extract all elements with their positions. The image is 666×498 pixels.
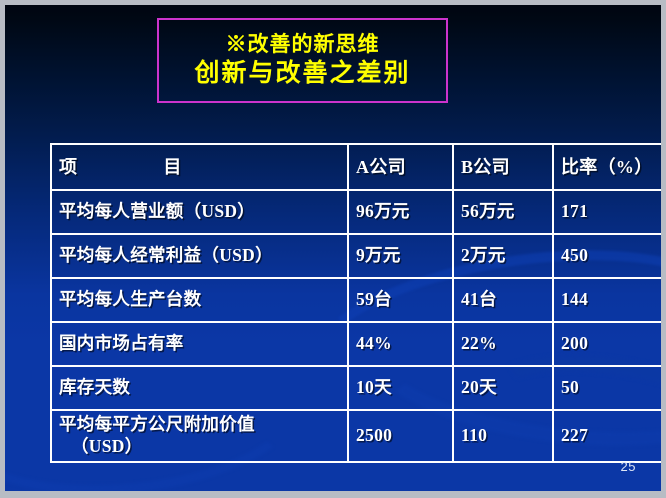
table-body: 平均每人营业额（USD） 96万元 56万元 171 平均每人经常利益（USD）… (51, 190, 666, 462)
title-box: ※改善的新思维 创新与改善之差别 (157, 18, 448, 103)
page-number: 25 (621, 459, 636, 474)
cell-ratio: 200 (553, 322, 666, 366)
column-header-item: 项目 (51, 144, 348, 190)
cell-item: 库存天数 (51, 366, 348, 410)
page-title: 创新与改善之差别 (194, 60, 410, 88)
cell-item-line1: 平均每平方公尺附加价值 (59, 414, 255, 434)
table-header-row: 项目 A公司 B公司 比率（%） (51, 144, 666, 190)
column-header-item-char2: 目 (163, 156, 181, 179)
cell-ratio: 227 (553, 410, 666, 462)
cell-company-a: 96万元 (348, 190, 453, 234)
cell-ratio: 144 (553, 278, 666, 322)
cell-company-b: 2万元 (453, 234, 553, 278)
column-header-item-char1: 项 (59, 156, 77, 179)
cell-item: 平均每平方公尺附加价值 （USD） (51, 410, 348, 462)
cell-item: 平均每人生产台数 (51, 278, 348, 322)
table-row: 平均每人营业额（USD） 96万元 56万元 171 (51, 190, 666, 234)
cell-ratio: 171 (553, 190, 666, 234)
column-header-company-b: B公司 (453, 144, 553, 190)
cell-company-a: 2500 (348, 410, 453, 462)
cell-company-a: 59台 (348, 278, 453, 322)
cell-company-b: 22% (453, 322, 553, 366)
title-subtitle: ※改善的新思维 (226, 33, 380, 56)
column-header-company-a: A公司 (348, 144, 453, 190)
table-row: 库存天数 10天 20天 50 (51, 366, 666, 410)
cell-company-a: 44% (348, 322, 453, 366)
table-row: 平均每人生产台数 59台 41台 144 (51, 278, 666, 322)
cell-company-b: 41台 (453, 278, 553, 322)
cell-ratio: 50 (553, 366, 666, 410)
cell-item: 国内市场占有率 (51, 322, 348, 366)
slide-canvas: ※改善的新思维 创新与改善之差别 项目 A公司 B公司 比率（%） 平均每人营业… (0, 0, 666, 498)
table-row: 国内市场占有率 44% 22% 200 (51, 322, 666, 366)
cell-company-b: 20天 (453, 366, 553, 410)
table-row: 平均每平方公尺附加价值 （USD） 2500 110 227 (51, 410, 666, 462)
cell-item-line2: （USD） (59, 436, 340, 458)
column-header-ratio: 比率（%） (553, 144, 666, 190)
cell-item: 平均每人经常利益（USD） (51, 234, 348, 278)
comparison-table: 项目 A公司 B公司 比率（%） 平均每人营业额（USD） 96万元 56万元 … (50, 143, 666, 463)
cell-item: 平均每人营业额（USD） (51, 190, 348, 234)
cell-ratio: 450 (553, 234, 666, 278)
cell-item-wrapper: 平均每平方公尺附加价值 （USD） (59, 414, 340, 458)
cell-company-b: 110 (453, 410, 553, 462)
cell-company-a: 9万元 (348, 234, 453, 278)
cell-company-a: 10天 (348, 366, 453, 410)
table-header: 项目 A公司 B公司 比率（%） (51, 144, 666, 190)
cell-company-b: 56万元 (453, 190, 553, 234)
table-row: 平均每人经常利益（USD） 9万元 2万元 450 (51, 234, 666, 278)
